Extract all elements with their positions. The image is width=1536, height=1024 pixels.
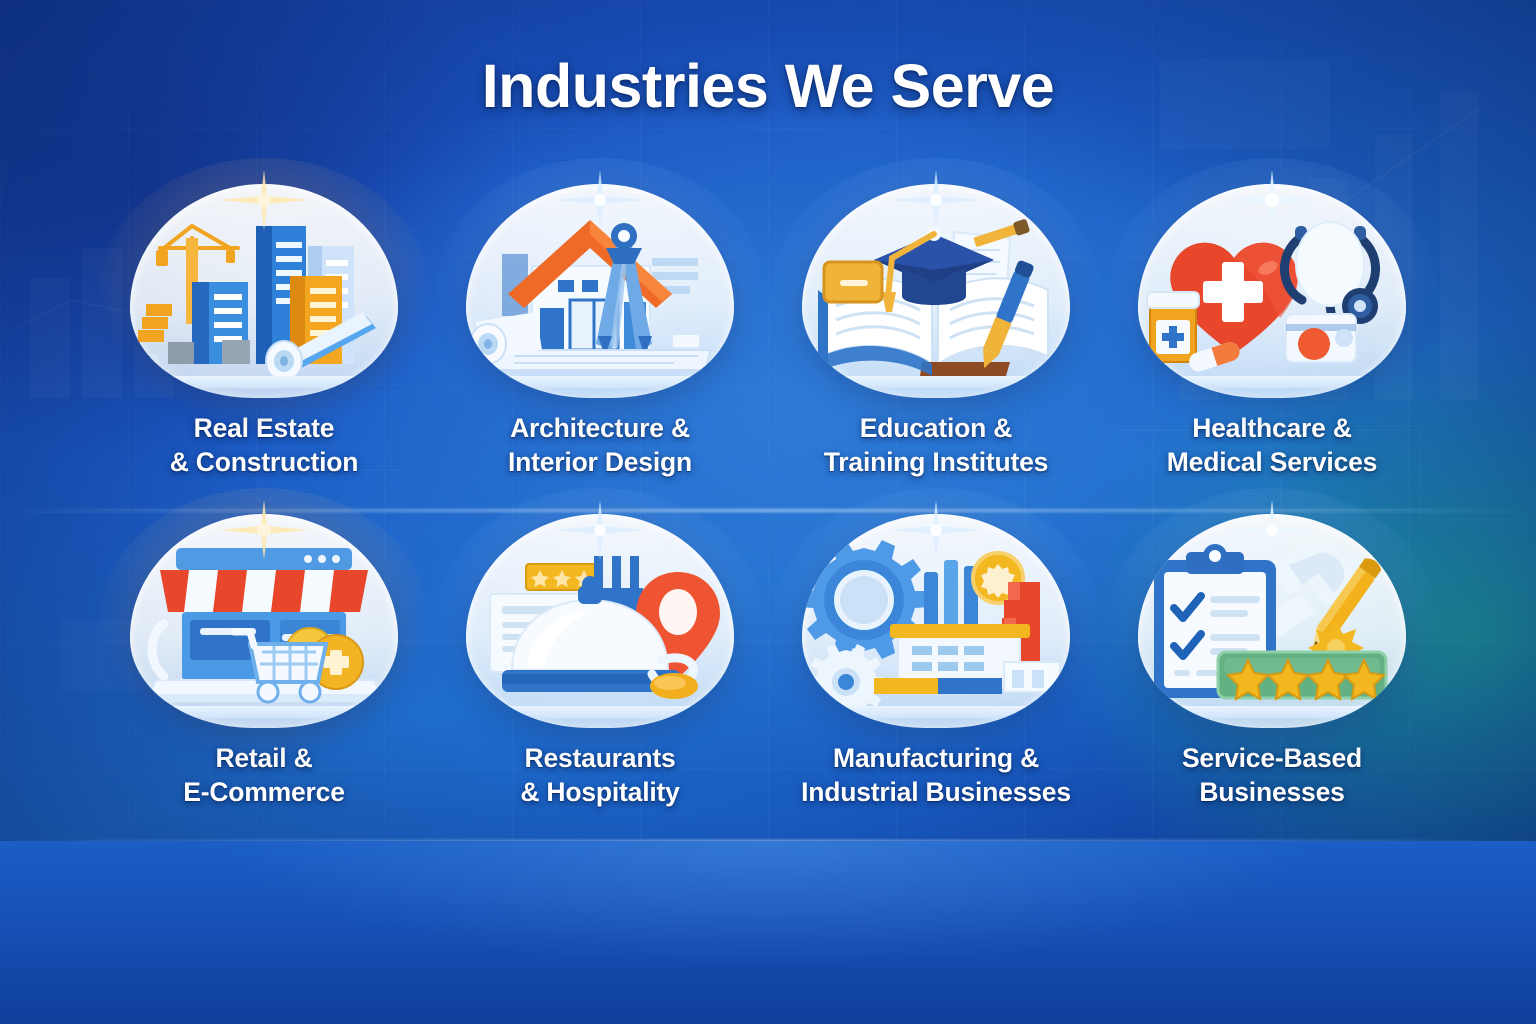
icon-bubble-wrapper — [96, 176, 432, 408]
card-label: Architecture & Interior Design — [432, 412, 768, 480]
icon-bubble-wrapper — [768, 506, 1104, 738]
floor-gradient — [0, 841, 1536, 1024]
bubble-shelf — [474, 376, 726, 388]
icon-bubble-wrapper — [1104, 506, 1440, 738]
bubble-shelf — [1146, 376, 1398, 388]
bubble-shelf — [810, 706, 1062, 718]
card-label: Healthcare & Medical Services — [1104, 412, 1440, 480]
bubble-shelf — [138, 706, 390, 718]
icon-bubble-wrapper — [432, 176, 768, 408]
industry-card-restaurants-hospitality[interactable]: Restaurants & Hospitality — [432, 506, 768, 810]
icon-bubble — [802, 514, 1070, 728]
industry-card-architecture-interior-design[interactable]: Architecture & Interior Design — [432, 176, 768, 480]
bubble-shelf — [138, 376, 390, 388]
industry-card-healthcare-medical[interactable]: Healthcare & Medical Services — [1104, 176, 1440, 480]
clipboard-wrench-stars-icon — [1138, 534, 1406, 712]
bubble-shelf — [474, 706, 726, 718]
icon-bubble — [802, 184, 1070, 398]
construction-buildings-icon — [130, 204, 398, 382]
card-label: Service-Based Businesses — [1104, 742, 1440, 810]
icon-bubble — [130, 184, 398, 398]
icon-bubble — [466, 184, 734, 398]
gear-factory-icon — [802, 534, 1070, 712]
page-title: Industries We Serve — [0, 54, 1536, 118]
icon-bubble — [130, 514, 398, 728]
book-graduation-cap-icon — [802, 204, 1070, 382]
icon-bubble-wrapper — [96, 506, 432, 738]
icon-bubble-wrapper — [1104, 176, 1440, 408]
icon-bubble — [466, 514, 734, 728]
house-compass-blueprint-icon — [466, 204, 734, 382]
industry-card-real-estate-construction[interactable]: Real Estate & Construction — [96, 176, 432, 480]
card-label: Manufacturing & Industrial Businesses — [768, 742, 1104, 810]
icon-bubble-wrapper — [768, 176, 1104, 408]
icon-bubble — [1138, 514, 1406, 728]
industry-card-retail-ecommerce[interactable]: Retail & E-Commerce — [96, 506, 432, 810]
heart-stethoscope-icon — [1138, 204, 1406, 382]
storefront-cart-icon — [130, 534, 398, 712]
bubble-shelf — [1146, 706, 1398, 718]
card-label: Retail & E-Commerce — [96, 742, 432, 810]
cloche-fork-pin-icon — [466, 534, 734, 712]
card-label: Real Estate & Construction — [96, 412, 432, 480]
icon-bubble-wrapper — [432, 506, 768, 738]
industry-card-manufacturing-industrial[interactable]: Manufacturing & Industrial Businesses — [768, 506, 1104, 810]
card-label: Restaurants & Hospitality — [432, 742, 768, 810]
icon-bubble — [1138, 184, 1406, 398]
industry-card-service-based-businesses[interactable]: Service-Based Businesses — [1104, 506, 1440, 810]
industry-card-education-training[interactable]: Education & Training Institutes — [768, 176, 1104, 480]
card-label: Education & Training Institutes — [768, 412, 1104, 480]
industries-grid: Real Estate & Construction — [96, 176, 1440, 810]
bubble-shelf — [810, 376, 1062, 388]
